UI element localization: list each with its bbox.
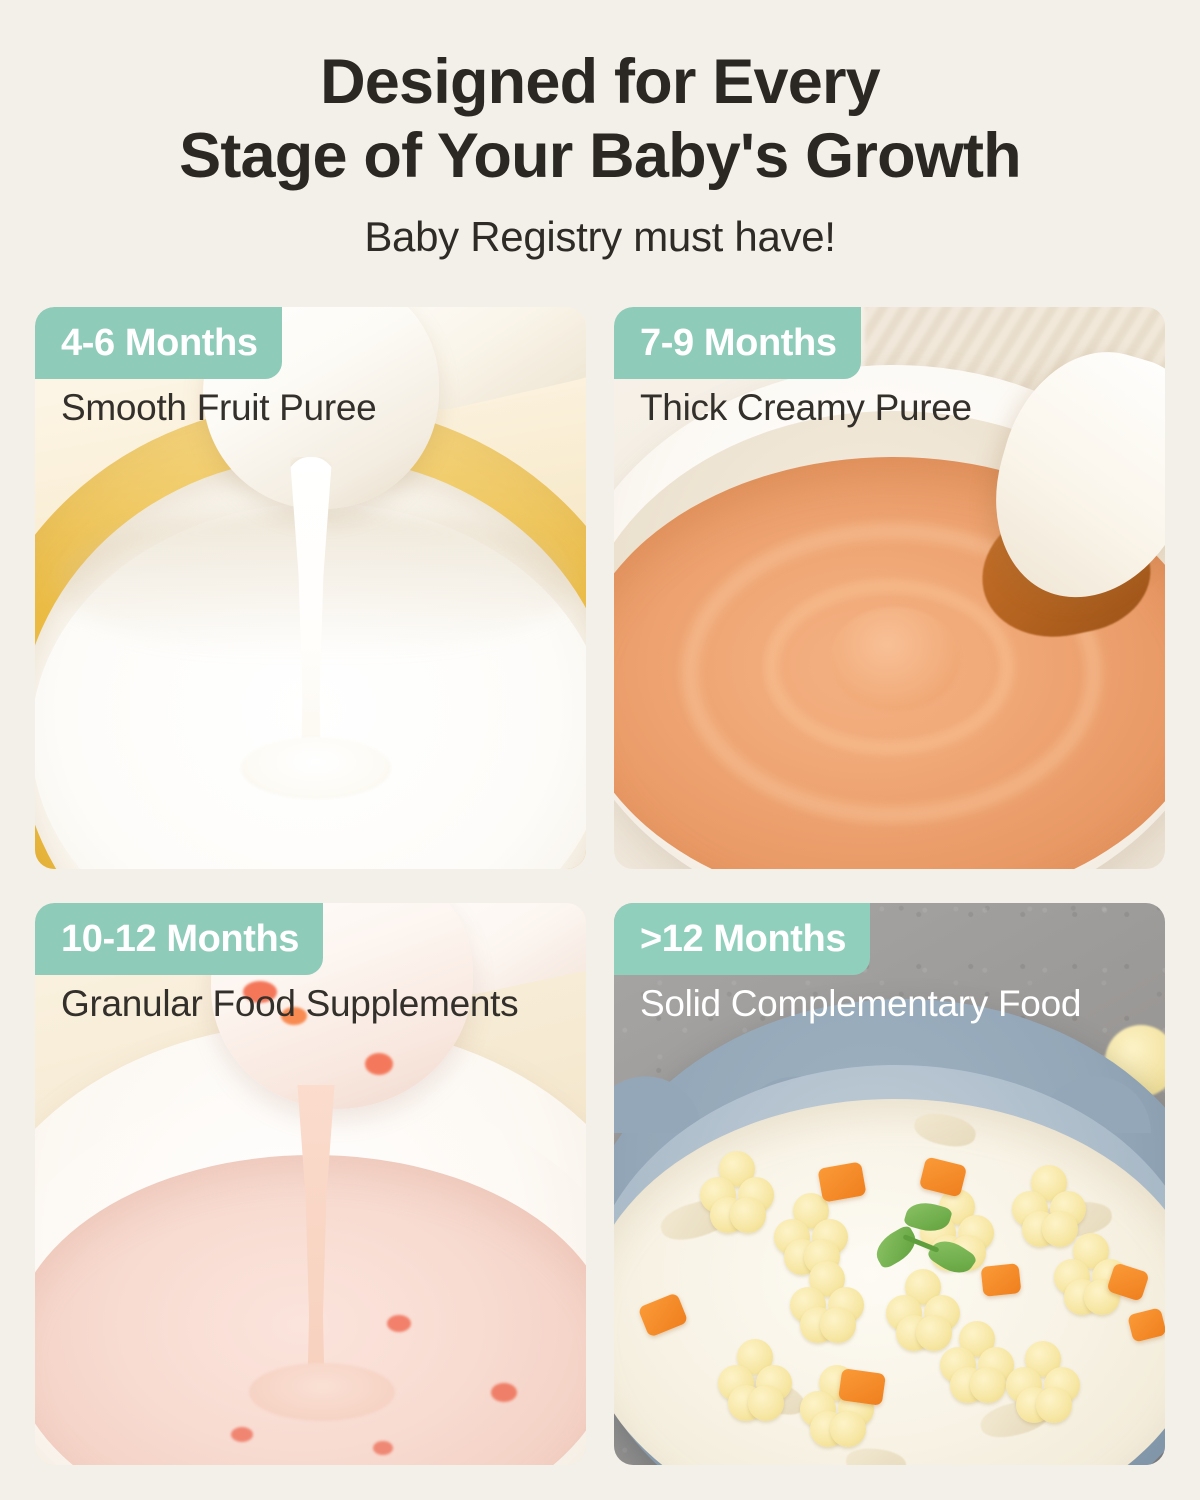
stage-caption: Solid Complementary Food bbox=[640, 983, 1081, 1025]
stage-card-10-12-months[interactable]: 10-12 Months Granular Food Supplements bbox=[35, 903, 586, 1465]
stage-caption: Granular Food Supplements bbox=[61, 983, 518, 1025]
stage-badge: 7-9 Months bbox=[614, 307, 861, 379]
stage-card-4-6-months[interactable]: 4-6 Months Smooth Fruit Puree bbox=[35, 307, 586, 869]
stage-badge: 10-12 Months bbox=[35, 903, 323, 975]
stage-caption: Thick Creamy Puree bbox=[640, 387, 972, 429]
stage-caption: Smooth Fruit Puree bbox=[61, 387, 376, 429]
header: Designed for Every Stage of Your Baby's … bbox=[0, 0, 1200, 261]
stage-card-7-9-months[interactable]: 7-9 Months Thick Creamy Puree bbox=[614, 307, 1165, 869]
promo-page: Designed for Every Stage of Your Baby's … bbox=[0, 0, 1200, 1500]
page-title: Designed for Every Stage of Your Baby's … bbox=[0, 46, 1200, 193]
page-subtitle: Baby Registry must have! bbox=[0, 213, 1200, 261]
stage-card-grid: 4-6 Months Smooth Fruit Puree 7-9 Months… bbox=[35, 307, 1165, 1467]
stage-card-over-12-months[interactable]: >12 Months Solid Complementary Food bbox=[614, 903, 1165, 1465]
stage-badge: >12 Months bbox=[614, 903, 870, 975]
stage-badge: 4-6 Months bbox=[35, 307, 282, 379]
